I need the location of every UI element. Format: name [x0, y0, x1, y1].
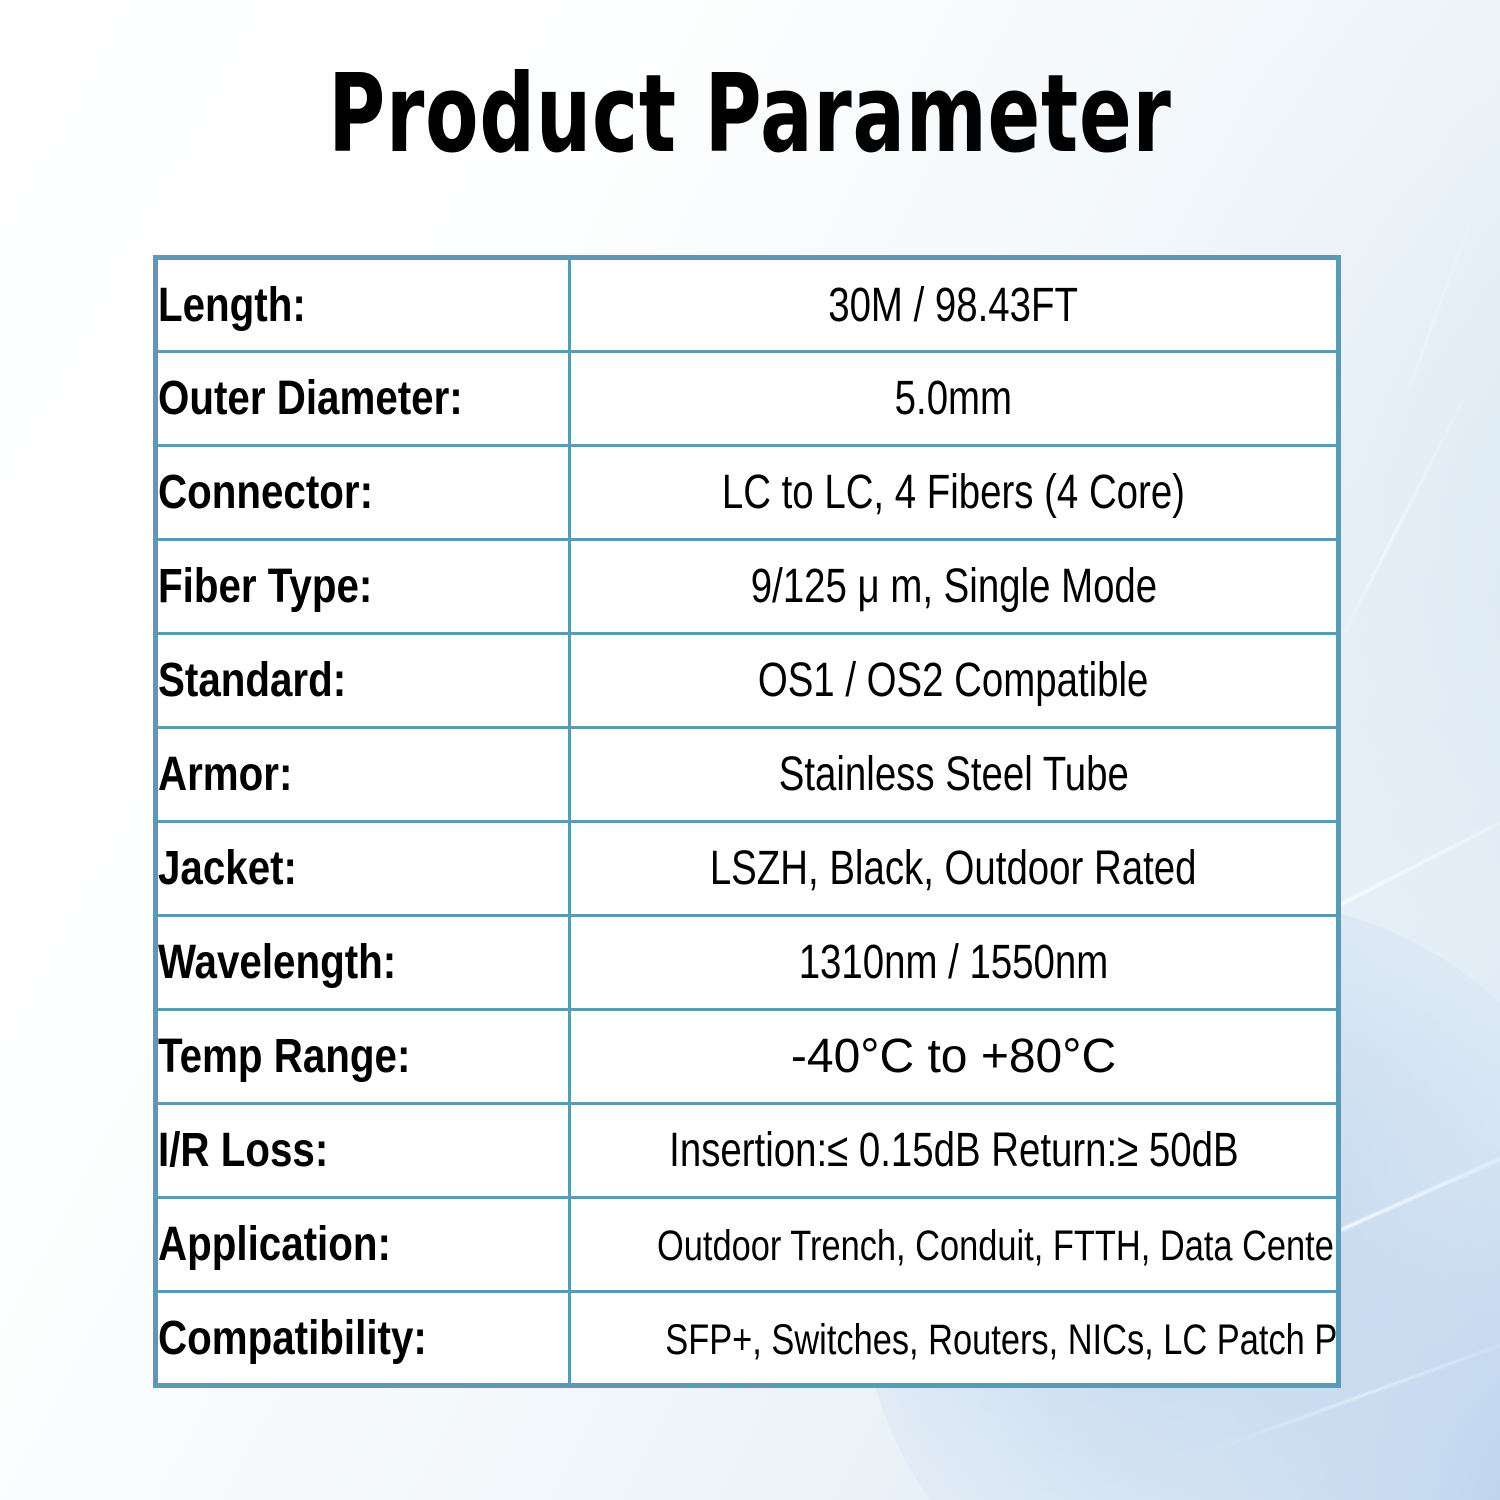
spec-value-compatibility: SFP+, Switches, Routers, NICs, LC Patch … — [570, 1292, 1339, 1386]
table-row: Compatibility: SFP+, Switches, Routers, … — [156, 1292, 1339, 1386]
table-row: Standard: OS1 / OS2 Compatible — [156, 634, 1339, 728]
spec-value-text: -40°C to +80°C — [791, 1029, 1116, 1084]
table-row: Outer Diameter: 5.0mm — [156, 352, 1339, 446]
spec-value-connector: LC to LC, 4 Fibers (4 Core) — [570, 446, 1339, 540]
spec-value-armor: Stainless Steel Tube — [570, 728, 1339, 822]
table-row: Fiber Type: 9/125 μ m, Single Mode — [156, 540, 1339, 634]
spec-label-text: Temp Range: — [158, 1029, 410, 1084]
spec-value-application: Outdoor Trench, Conduit, FTTH, Data Cent… — [570, 1198, 1339, 1292]
spec-label-text: Outer Diameter: — [158, 371, 463, 426]
product-parameter-page: Product Parameter Length: 30M / 98.43FT … — [0, 0, 1500, 1500]
spec-value-text: LC to LC, 4 Fibers (4 Core) — [722, 465, 1185, 520]
spec-label-outer-diameter: Outer Diameter: — [156, 352, 570, 446]
spec-label-jacket: Jacket: — [156, 822, 570, 916]
spec-label-text: Wavelength: — [158, 935, 396, 990]
spec-value-wavelength: 1310nm / 1550nm — [570, 916, 1339, 1010]
spec-label-text: Connector: — [158, 465, 373, 520]
spec-value-text: Outdoor Trench, Conduit, FTTH, Data Cent… — [657, 1222, 1338, 1271]
spec-value-text: 9/125 μ m, Single Mode — [750, 559, 1156, 614]
spec-value-temp-range: -40°C to +80°C — [570, 1010, 1339, 1104]
spec-value-standard: OS1 / OS2 Compatible — [570, 634, 1339, 728]
spec-value-text: LSZH, Black, Outdoor Rated — [710, 841, 1197, 896]
spec-label-text: Armor: — [158, 747, 292, 802]
specification-table-body: Length: 30M / 98.43FT Outer Diameter: 5.… — [156, 258, 1339, 1386]
spec-label-length: Length: — [156, 258, 570, 352]
table-row: Jacket: LSZH, Black, Outdoor Rated — [156, 822, 1339, 916]
spec-value-fiber-type: 9/125 μ m, Single Mode — [570, 540, 1339, 634]
spec-label-text: Standard: — [158, 653, 346, 708]
specification-table: Length: 30M / 98.43FT Outer Diameter: 5.… — [153, 255, 1341, 1388]
table-row: Wavelength: 1310nm / 1550nm — [156, 916, 1339, 1010]
table-row: Connector: LC to LC, 4 Fibers (4 Core) — [156, 446, 1339, 540]
table-row: Armor: Stainless Steel Tube — [156, 728, 1339, 822]
spec-label-text: Fiber Type: — [158, 559, 372, 614]
table-row: I/R Loss: Insertion:≤ 0.15dB Return:≥ 50… — [156, 1104, 1339, 1198]
spec-label-standard: Standard: — [156, 634, 570, 728]
spec-label-application: Application: — [156, 1198, 570, 1292]
table-row: Length: 30M / 98.43FT — [156, 258, 1339, 352]
streak-5 — [1389, 215, 1473, 441]
spec-label-temp-range: Temp Range: — [156, 1010, 570, 1104]
spec-label-fiber-type: Fiber Type: — [156, 540, 570, 634]
spec-value-text: Stainless Steel Tube — [778, 747, 1128, 802]
spec-label-wavelength: Wavelength: — [156, 916, 570, 1010]
spec-value-ir-loss: Insertion:≤ 0.15dB Return:≥ 50dB — [570, 1104, 1339, 1198]
spec-value-text: 30M / 98.43FT — [829, 278, 1079, 333]
table-row: Application: Outdoor Trench, Conduit, FT… — [156, 1198, 1339, 1292]
spec-label-text: Compatibility: — [158, 1311, 427, 1366]
page-title: Product Parameter — [150, 56, 1350, 175]
streak-3 — [1329, 393, 1467, 661]
spec-label-armor: Armor: — [156, 728, 570, 822]
spec-value-text: OS1 / OS2 Compatible — [758, 653, 1149, 708]
table-row: Temp Range: -40°C to +80°C — [156, 1010, 1339, 1104]
spec-value-text: SFP+, Switches, Routers, NICs, LC Patch … — [665, 1316, 1338, 1365]
spec-value-text: Insertion:≤ 0.15dB Return:≥ 50dB — [669, 1123, 1238, 1178]
spec-label-text: I/R Loss: — [158, 1123, 328, 1178]
spec-label-text: Length: — [158, 278, 306, 333]
spec-label-text: Jacket: — [158, 841, 297, 896]
spec-value-outer-diameter: 5.0mm — [570, 352, 1339, 446]
spec-value-jacket: LSZH, Black, Outdoor Rated — [570, 822, 1339, 916]
spec-label-text: Application: — [158, 1217, 391, 1272]
spec-label-compatibility: Compatibility: — [156, 1292, 570, 1386]
spec-label-connector: Connector: — [156, 446, 570, 540]
spec-label-ir-loss: I/R Loss: — [156, 1104, 570, 1198]
spec-value-length: 30M / 98.43FT — [570, 258, 1339, 352]
spec-value-text: 1310nm / 1550nm — [799, 935, 1109, 990]
spec-value-text: 5.0mm — [895, 371, 1012, 426]
